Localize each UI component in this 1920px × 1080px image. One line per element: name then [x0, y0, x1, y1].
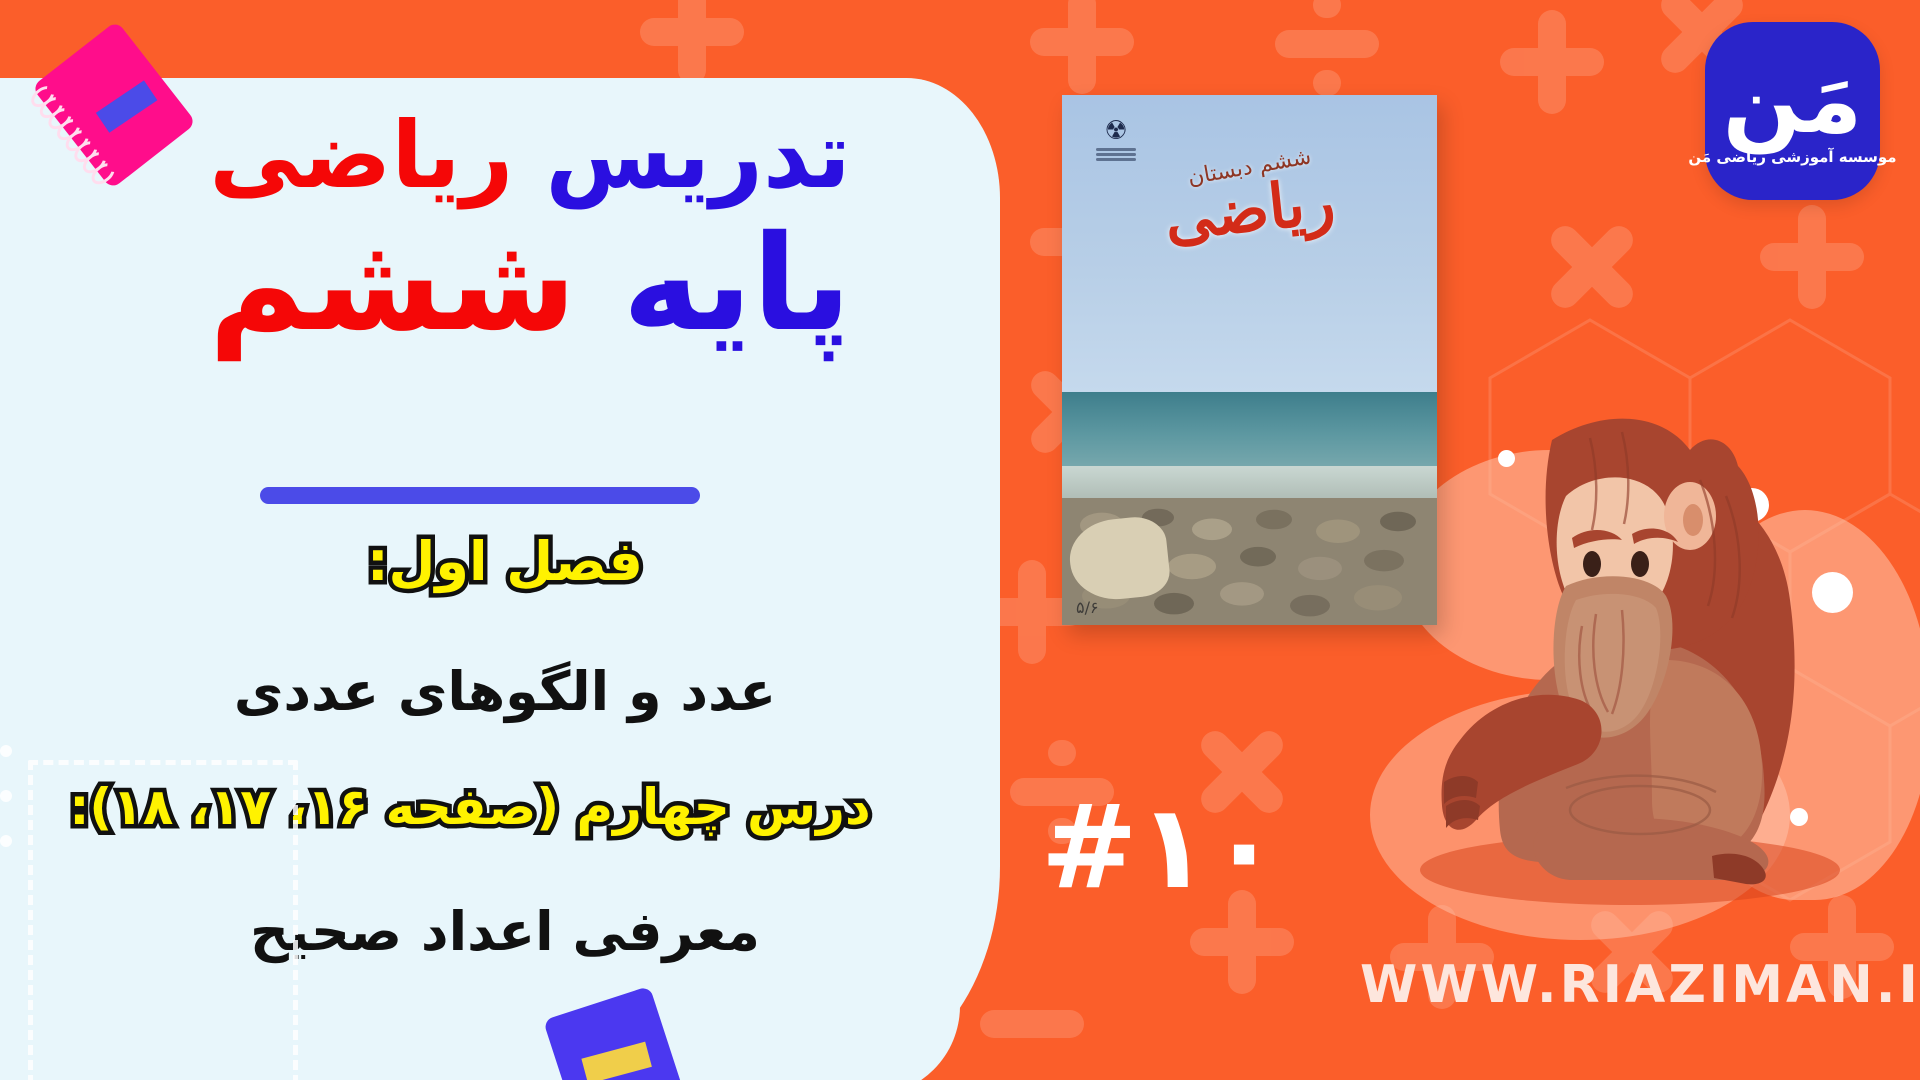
- title-word-riazi: ریاضی: [209, 102, 513, 209]
- textbook-cover: ☢ ششم دبستان ریاضی ۵/۶: [1062, 95, 1437, 625]
- title-word-tadris: تدریس: [545, 102, 850, 209]
- title-word-paye: پایه: [622, 207, 851, 361]
- dot-decoration: [0, 835, 12, 847]
- title-divider: [260, 487, 700, 504]
- minus-icon: [980, 1010, 1084, 1040]
- title-word-sheshom: ششم: [209, 207, 577, 361]
- logo-mark: مَن: [1723, 60, 1863, 143]
- poster-canvas: ☢ ششم دبستان ریاضی ۵/۶ تدریس ریاضی پایه …: [0, 0, 1920, 1080]
- plus-icon: [1500, 10, 1604, 114]
- page-title-line1: تدریس ریاضی: [130, 108, 930, 205]
- dot-decoration: [0, 745, 12, 757]
- divide-icon: [1275, 0, 1379, 96]
- dashed-frame-decoration: [28, 760, 298, 1080]
- website-url[interactable]: WWW.RIAZIMAN.IR: [1360, 955, 1900, 1015]
- episode-number: #۱۰: [1010, 780, 1310, 915]
- orangutan-mascot-illustration: [1360, 400, 1900, 900]
- brand-logo[interactable]: مَن موسسه آموزشی ریاضی مَن: [1705, 22, 1880, 200]
- book-code: ۵/۶: [1076, 598, 1099, 617]
- chapter-topic: عدد و الگوهای عددی: [130, 660, 880, 723]
- plus-icon: [1760, 205, 1864, 309]
- plus-icon: [640, 0, 744, 84]
- notebook-label: [581, 1042, 651, 1080]
- multiply-icon: [1540, 215, 1644, 319]
- page-title-line2: پایه ششم: [130, 215, 930, 354]
- iran-emblem-icon: ☢: [1092, 117, 1140, 177]
- dot-decoration: [0, 790, 12, 802]
- chapter-label: فصل اول:: [130, 530, 880, 593]
- notebook-label: [96, 80, 158, 132]
- plus-icon: [1030, 0, 1134, 94]
- logo-name: موسسه آموزشی ریاضی مَن: [1688, 148, 1896, 166]
